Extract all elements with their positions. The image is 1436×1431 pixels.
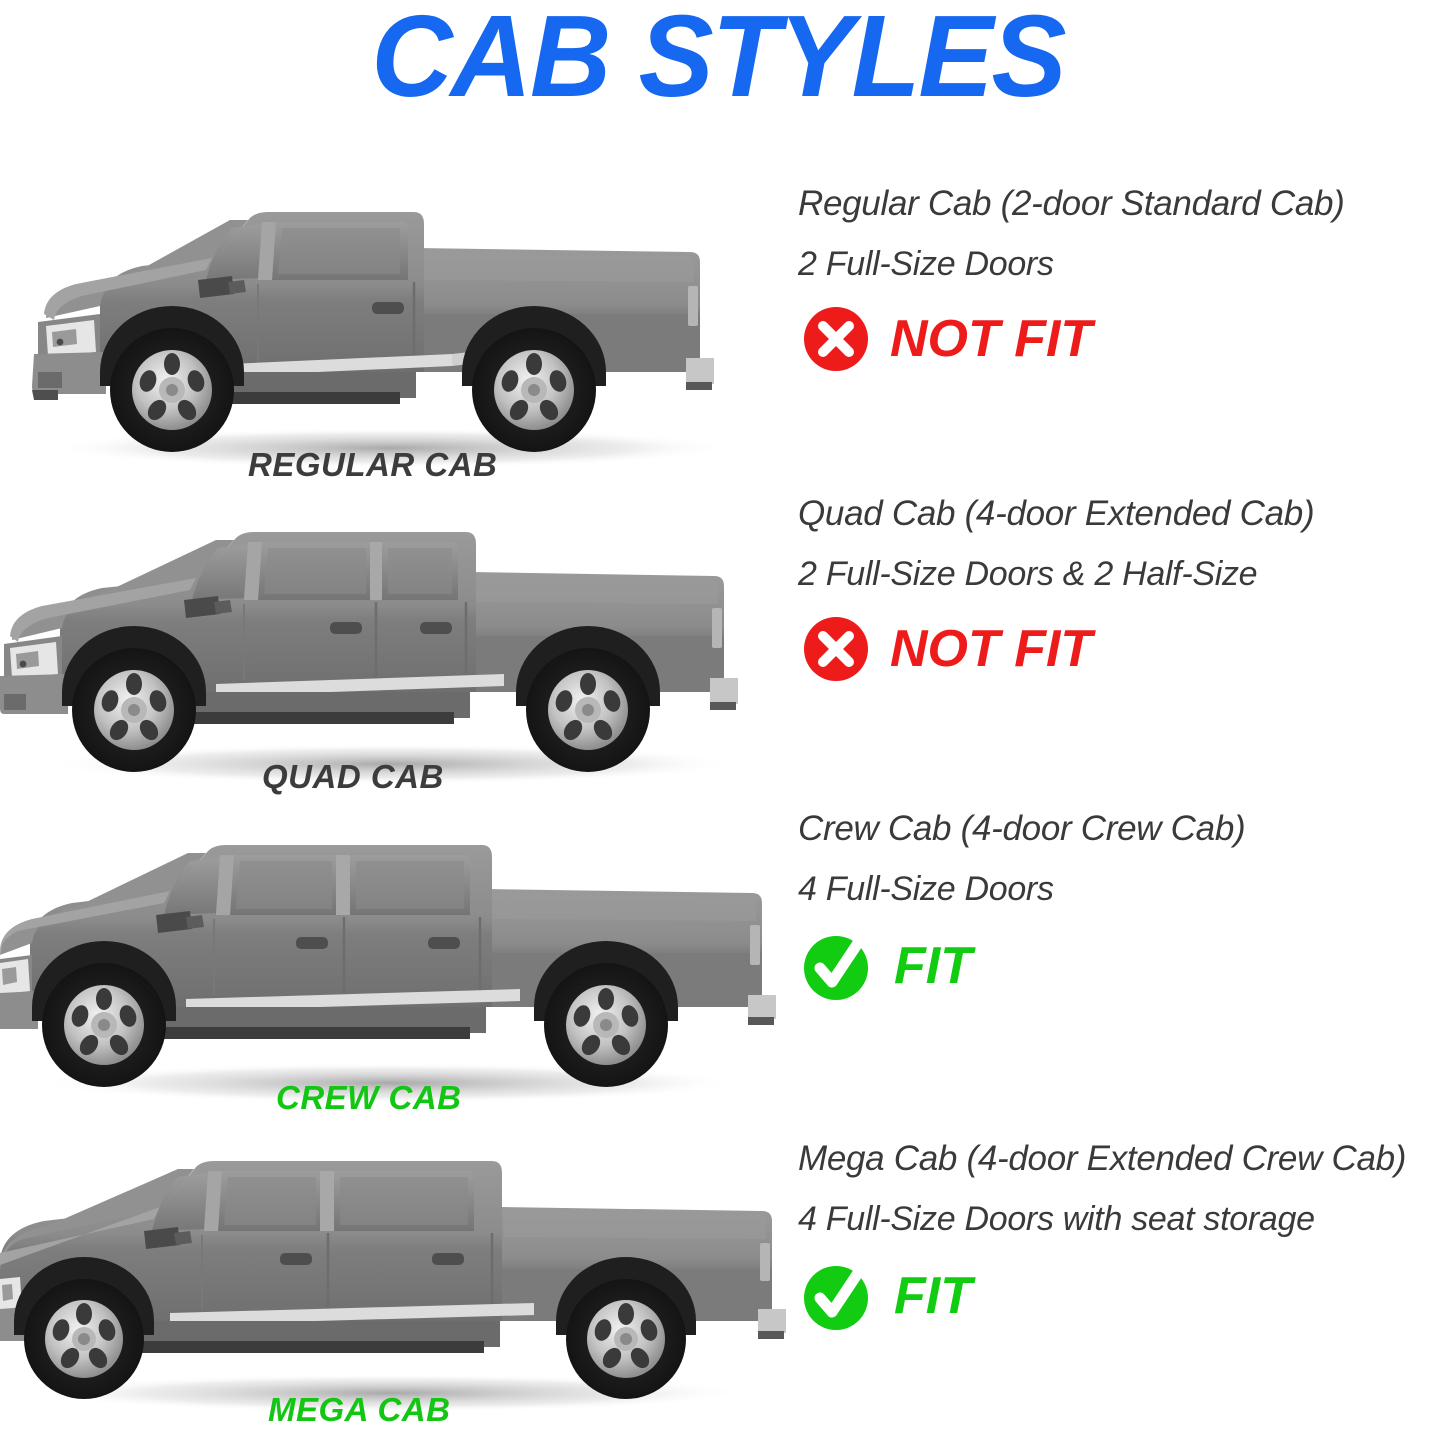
fit-label-mega: FIT bbox=[894, 1270, 972, 1322]
mega-cab-truck-illustration bbox=[0, 1141, 790, 1421]
fit-label-quad: NOT FIT bbox=[890, 623, 1092, 675]
cab-doors-quad: 2 Full-Size Doors & 2 Half-Size bbox=[798, 557, 1436, 591]
cab-row-crew: CREW CAB Crew Cab (4-door Crew Cab) 4 Fu… bbox=[0, 811, 1436, 1141]
fit-status-regular: NOT FIT bbox=[798, 301, 1436, 377]
cab-caption-quad: QUAD CAB bbox=[262, 758, 444, 796]
cab-info-mega: Mega Cab (4-door Extended Crew Cab) 4 Fu… bbox=[798, 1141, 1436, 1336]
green-check-circle-icon bbox=[798, 926, 878, 1006]
cab-styles-infographic: CAB STYLES bbox=[0, 0, 1436, 1431]
crew-cab-truck bbox=[0, 811, 790, 1111]
page-title: CAB STYLES bbox=[22, 0, 1415, 114]
fit-status-crew: FIT bbox=[798, 926, 1436, 1006]
regular-cab-truck-illustration bbox=[0, 186, 790, 476]
green-check-circle-icon bbox=[798, 1256, 878, 1336]
cab-caption-regular: REGULAR CAB bbox=[248, 446, 497, 484]
cab-info-crew: Crew Cab (4-door Crew Cab) 4 Full-Size D… bbox=[798, 811, 1436, 1006]
cab-title-crew: Crew Cab (4-door Crew Cab) bbox=[798, 811, 1436, 846]
cab-row-mega: MEGA CAB Mega Cab (4-door Extended Crew … bbox=[0, 1141, 1436, 1431]
fit-status-mega: FIT bbox=[798, 1256, 1436, 1336]
fit-status-quad: NOT FIT bbox=[798, 611, 1436, 687]
red-x-circle-icon bbox=[798, 301, 874, 377]
regular-cab-truck bbox=[0, 186, 790, 476]
fit-label-regular: NOT FIT bbox=[890, 313, 1092, 365]
cab-info-quad: Quad Cab (4-door Extended Cab) 2 Full-Si… bbox=[798, 496, 1436, 687]
cab-row-quad: QUAD CAB Quad Cab (4-door Extended Cab) … bbox=[0, 496, 1436, 811]
crew-cab-truck-illustration bbox=[0, 811, 790, 1111]
cab-caption-mega: MEGA CAB bbox=[268, 1391, 450, 1429]
cab-doors-regular: 2 Full-Size Doors bbox=[798, 247, 1436, 281]
quad-cab-truck-illustration bbox=[0, 496, 790, 796]
cab-row-regular: REGULAR CAB Regular Cab (2-door Standard… bbox=[0, 186, 1436, 496]
mega-cab-truck bbox=[0, 1141, 790, 1421]
cab-title-regular: Regular Cab (2-door Standard Cab) bbox=[798, 186, 1436, 221]
cab-title-quad: Quad Cab (4-door Extended Cab) bbox=[798, 496, 1436, 531]
fit-label-crew: FIT bbox=[894, 940, 972, 992]
cab-caption-crew: CREW CAB bbox=[276, 1079, 461, 1117]
cab-doors-crew: 4 Full-Size Doors bbox=[798, 872, 1436, 906]
cab-info-regular: Regular Cab (2-door Standard Cab) 2 Full… bbox=[798, 186, 1436, 377]
cab-title-mega: Mega Cab (4-door Extended Crew Cab) bbox=[798, 1141, 1436, 1176]
red-x-circle-icon bbox=[798, 611, 874, 687]
quad-cab-truck bbox=[0, 496, 790, 796]
cab-doors-mega: 4 Full-Size Doors with seat storage bbox=[798, 1202, 1436, 1236]
